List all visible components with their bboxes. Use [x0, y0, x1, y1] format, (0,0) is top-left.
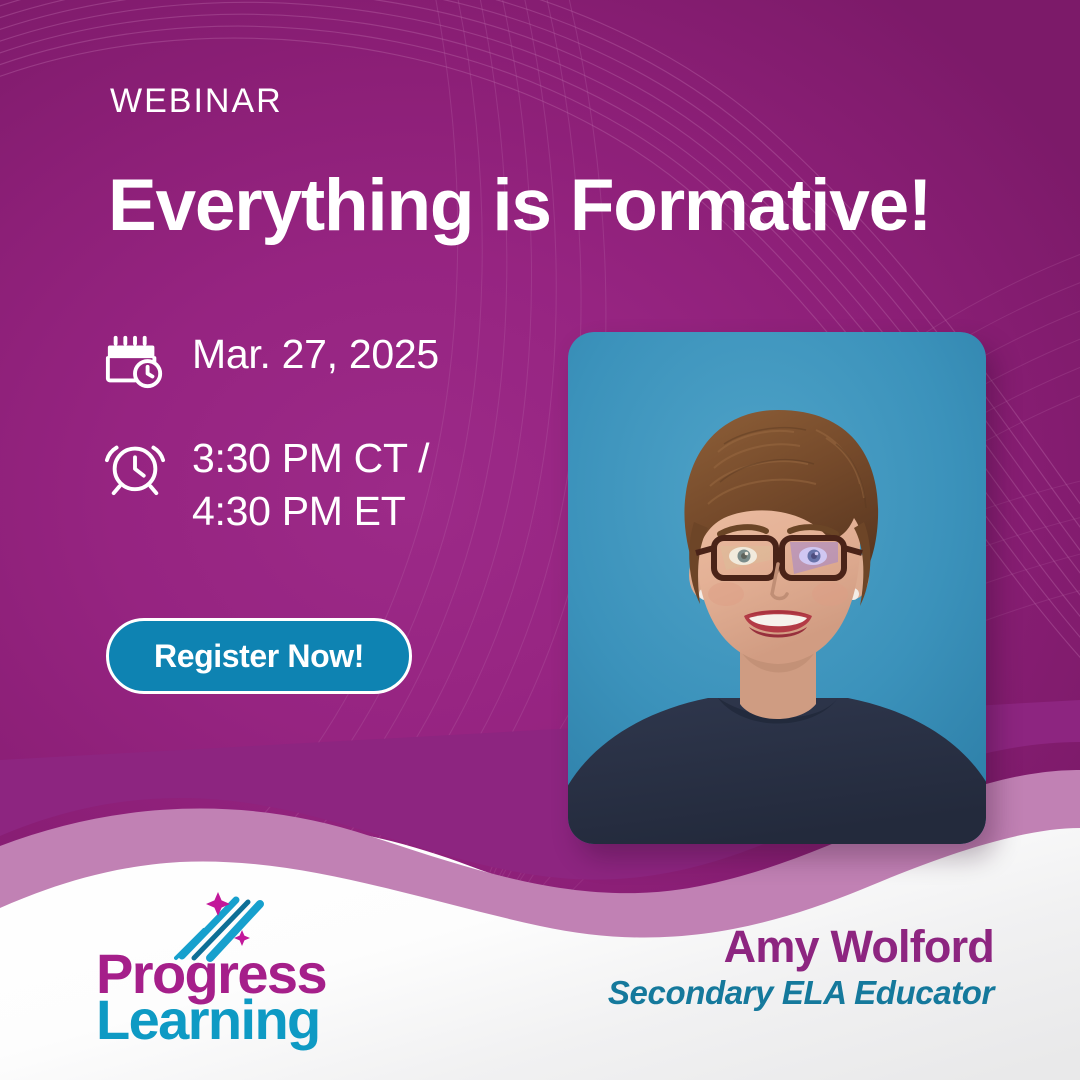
date-value: Mar. 27, 2025 [192, 328, 439, 381]
date-row: Mar. 27, 2025 [104, 328, 439, 392]
register-now-button[interactable]: Register Now! [106, 618, 412, 694]
alarm-clock-icon [104, 434, 166, 496]
progress-learning-logo: Progress Learning [96, 888, 346, 1040]
webinar-poster: WEBINAR Everything is Formative! Mar. 27… [0, 0, 1080, 1080]
logo-word-learning: Learning [96, 992, 320, 1048]
page-title: Everything is Formative! [108, 168, 1038, 245]
eyebrow-label: WEBINAR [110, 84, 283, 118]
time-value: 3:30 PM CT / 4:30 PM ET [192, 432, 429, 539]
speaker-photo [568, 332, 986, 844]
speaker-block: Amy Wolford Secondary ELA Educator [608, 922, 994, 1011]
speaker-name: Amy Wolford [608, 922, 994, 972]
calendar-clock-icon [104, 330, 166, 392]
time-row: 3:30 PM CT / 4:30 PM ET [104, 432, 429, 539]
speaker-role: Secondary ELA Educator [608, 974, 994, 1012]
